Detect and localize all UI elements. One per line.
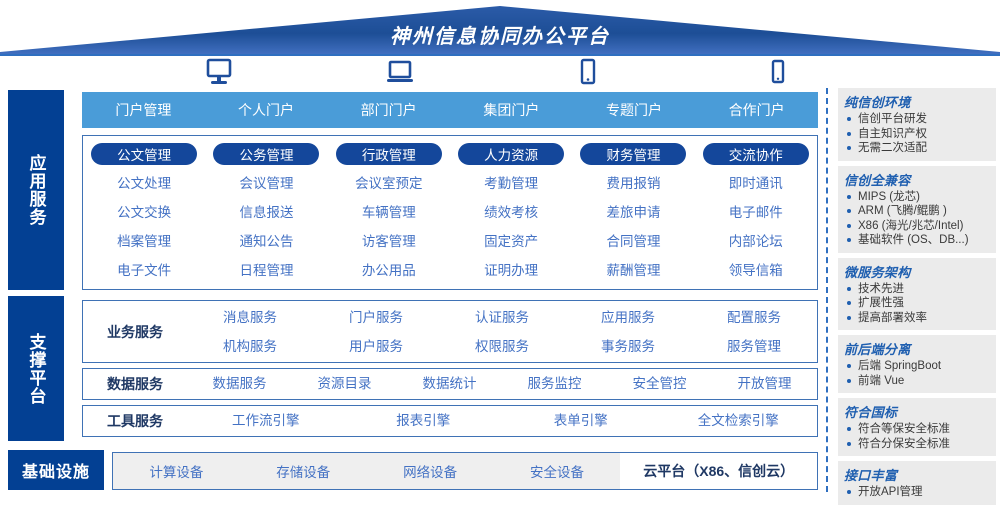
feature-section-title: 前后端分离 <box>844 339 990 358</box>
module-header[interactable]: 财务管理 <box>580 143 686 165</box>
feature-item: 信创平台研发 <box>844 112 990 127</box>
business-service-label: 业务服务 <box>83 322 187 342</box>
service-item[interactable]: 安全管控 <box>607 370 712 398</box>
module-column: 交流协作 即时通讯 电子邮件 内部论坛 领导信箱 <box>695 136 817 289</box>
service-item[interactable]: 权限服务 <box>439 332 565 361</box>
feature-section: 纯信创环境 信创平台研发 自主知识产权 无需二次适配 <box>838 88 996 161</box>
module-column: 公文管理 公文处理 公文交换 档案管理 电子文件 <box>83 136 205 289</box>
module-item[interactable]: 差旅申请 <box>606 198 660 227</box>
application-modules: 公文管理 公文处理 公文交换 档案管理 电子文件 公务管理 会议管理 信息报送 … <box>82 135 818 290</box>
layer-label-application: 应用服务 <box>8 90 64 290</box>
module-item[interactable]: 公文交换 <box>117 198 171 227</box>
module-item[interactable]: 薪酬管理 <box>606 256 660 285</box>
tool-service-box: 工具服务 工作流引擎 报表引擎 表单引擎 全文检索引擎 <box>82 405 818 437</box>
feature-item: 提高部署效率 <box>844 311 990 326</box>
module-item[interactable]: 考勤管理 <box>484 169 538 198</box>
feature-item: 符合分保安全标准 <box>844 437 990 452</box>
feature-list: 符合等保安全标准 符合分保安全标准 <box>844 422 990 451</box>
feature-item: 基础软件 (OS、DB...) <box>844 233 990 248</box>
infra-item[interactable]: 安全设备 <box>494 461 621 481</box>
feature-item: 扩展性强 <box>844 296 990 311</box>
module-column: 财务管理 费用报销 差旅申请 合同管理 薪酬管理 <box>572 136 694 289</box>
portal-item[interactable]: 合作门户 <box>695 100 818 120</box>
data-service-row: 数据服务 资源目录 数据统计 服务监控 安全管控 开放管理 <box>187 370 817 398</box>
business-service-row: 机构服务 用户服务 权限服务 事务服务 服务管理 <box>187 332 817 361</box>
service-item[interactable]: 事务服务 <box>565 332 691 361</box>
infrastructure-box: 计算设备 存储设备 网络设备 安全设备 云平台（X86、信创云） <box>112 452 818 490</box>
service-item[interactable]: 服务监控 <box>502 370 607 398</box>
feature-section-title: 信创全兼容 <box>844 170 990 189</box>
tool-service-row: 工作流引擎 报表引擎 表单引擎 全文检索引擎 <box>187 407 817 435</box>
module-header[interactable]: 公务管理 <box>213 143 319 165</box>
roof-banner: 神州信息协同办公平台 <box>0 0 1000 56</box>
desktop-icon <box>206 58 232 86</box>
feature-item: 开放API管理 <box>844 485 990 500</box>
service-item[interactable]: 门户服务 <box>313 303 439 332</box>
module-item[interactable]: 访客管理 <box>362 227 416 256</box>
service-item[interactable]: 配置服务 <box>691 303 817 332</box>
tablet-icon <box>575 58 601 86</box>
feature-item: MIPS (龙芯) <box>844 190 990 205</box>
feature-list: 后端 SpringBoot 前端 Vue <box>844 359 990 388</box>
laptop-icon <box>387 58 413 86</box>
feature-item: 符合等保安全标准 <box>844 422 990 437</box>
layer-label-infrastructure: 基础设施 <box>8 450 104 490</box>
service-item[interactable]: 用户服务 <box>313 332 439 361</box>
data-service-box: 数据服务 数据服务 资源目录 数据统计 服务监控 安全管控 开放管理 <box>82 368 818 400</box>
module-item[interactable]: 证明办理 <box>484 256 538 285</box>
feature-list: MIPS (龙芯) ARM (飞腾/鲲鹏 ) X86 (海光/兆芯/Intel)… <box>844 190 990 248</box>
feature-section-title: 接口丰富 <box>844 465 990 484</box>
infra-cloud-platform[interactable]: 云平台（X86、信创云） <box>620 461 817 481</box>
feature-item: 前端 Vue <box>844 374 990 389</box>
feature-item: 后端 SpringBoot <box>844 359 990 374</box>
portal-bar: 门户管理 个人门户 部门门户 集团门户 专题门户 合作门户 <box>82 92 818 128</box>
vertical-dashed-divider <box>826 88 828 492</box>
portal-item[interactable]: 集团门户 <box>450 100 573 120</box>
module-item[interactable]: 内部论坛 <box>729 227 783 256</box>
service-item[interactable]: 服务管理 <box>691 332 817 361</box>
module-header[interactable]: 行政管理 <box>336 143 442 165</box>
device-icon-strip <box>80 58 820 88</box>
feature-item: X86 (海光/兆芯/Intel) <box>844 219 990 234</box>
feature-section: 前后端分离 后端 SpringBoot 前端 Vue <box>838 335 996 393</box>
feature-section: 接口丰富 开放API管理 <box>838 461 996 505</box>
module-item[interactable]: 合同管理 <box>606 227 660 256</box>
module-item[interactable]: 会议管理 <box>239 169 293 198</box>
service-item[interactable]: 报表引擎 <box>345 407 503 435</box>
module-item[interactable]: 绩效考核 <box>484 198 538 227</box>
feature-list: 开放API管理 <box>844 485 990 500</box>
feature-item: ARM (飞腾/鲲鹏 ) <box>844 204 990 219</box>
module-item[interactable]: 会议室预定 <box>355 169 423 198</box>
feature-item: 无需二次适配 <box>844 141 990 156</box>
phone-icon <box>765 58 791 86</box>
infrastructure-devices: 计算设备 存储设备 网络设备 安全设备 <box>113 453 620 489</box>
business-service-row: 消息服务 门户服务 认证服务 应用服务 配置服务 <box>187 303 817 332</box>
infra-item[interactable]: 网络设备 <box>367 461 494 481</box>
module-item[interactable]: 办公用品 <box>362 256 416 285</box>
feature-section-title: 纯信创环境 <box>844 92 990 111</box>
architecture-diagram: 神州信息协同办公平台 <box>0 0 1000 500</box>
portal-item[interactable]: 个人门户 <box>205 100 328 120</box>
feature-section-title: 符合国标 <box>844 402 990 421</box>
module-item[interactable]: 公文处理 <box>117 169 171 198</box>
service-item[interactable]: 消息服务 <box>187 303 313 332</box>
module-column: 公务管理 会议管理 信息报送 通知公告 日程管理 <box>205 136 327 289</box>
feature-item: 自主知识产权 <box>844 127 990 142</box>
feature-section: 符合国标 符合等保安全标准 符合分保安全标准 <box>838 398 996 456</box>
service-item[interactable]: 应用服务 <box>565 303 691 332</box>
module-column: 行政管理 会议室预定 车辆管理 访客管理 办公用品 <box>328 136 450 289</box>
module-column: 人力资源 考勤管理 绩效考核 固定资产 证明办理 <box>450 136 572 289</box>
feature-list: 技术先进 扩展性强 提高部署效率 <box>844 282 990 326</box>
module-header[interactable]: 人力资源 <box>458 143 564 165</box>
service-item[interactable]: 表单引擎 <box>502 407 660 435</box>
module-item[interactable]: 日程管理 <box>239 256 293 285</box>
business-service-box: 业务服务 消息服务 门户服务 认证服务 应用服务 配置服务 机构服务 用户服务 … <box>82 300 818 363</box>
service-item[interactable]: 工作流引擎 <box>187 407 345 435</box>
module-item[interactable]: 领导信箱 <box>729 256 783 285</box>
service-item[interactable]: 资源目录 <box>292 370 397 398</box>
module-item[interactable]: 车辆管理 <box>362 198 416 227</box>
module-item[interactable]: 固定资产 <box>484 227 538 256</box>
feature-item: 技术先进 <box>844 282 990 297</box>
tool-service-label: 工具服务 <box>83 411 187 431</box>
feature-sidebar: 纯信创环境 信创平台研发 自主知识产权 无需二次适配 信创全兼容 MIPS (龙… <box>838 88 996 492</box>
service-item[interactable]: 认证服务 <box>439 303 565 332</box>
feature-section-title: 微服务架构 <box>844 262 990 281</box>
portal-item[interactable]: 门户管理 <box>82 100 205 120</box>
module-header[interactable]: 交流协作 <box>703 143 809 165</box>
service-item[interactable]: 开放管理 <box>712 370 817 398</box>
service-item[interactable]: 数据服务 <box>187 370 292 398</box>
feature-list: 信创平台研发 自主知识产权 无需二次适配 <box>844 112 990 156</box>
module-header[interactable]: 公文管理 <box>91 143 197 165</box>
data-service-label: 数据服务 <box>83 374 187 394</box>
feature-section: 微服务架构 技术先进 扩展性强 提高部署效率 <box>838 258 996 331</box>
page-title: 神州信息协同办公平台 <box>0 20 1000 49</box>
module-item[interactable]: 电子文件 <box>117 256 171 285</box>
module-item[interactable]: 即时通讯 <box>729 169 783 198</box>
feature-section: 信创全兼容 MIPS (龙芯) ARM (飞腾/鲲鹏 ) X86 (海光/兆芯/… <box>838 166 996 253</box>
portal-item[interactable]: 部门门户 <box>327 100 450 120</box>
layer-label-platform: 支撑平台 <box>8 296 64 441</box>
service-item[interactable]: 全文检索引擎 <box>660 407 818 435</box>
module-item[interactable]: 档案管理 <box>117 227 171 256</box>
infra-item[interactable]: 存储设备 <box>240 461 367 481</box>
infra-item[interactable]: 计算设备 <box>113 461 240 481</box>
module-item[interactable]: 信息报送 <box>239 198 293 227</box>
module-item[interactable]: 电子邮件 <box>729 198 783 227</box>
service-item[interactable]: 数据统计 <box>397 370 502 398</box>
service-item[interactable]: 机构服务 <box>187 332 313 361</box>
portal-item[interactable]: 专题门户 <box>573 100 696 120</box>
module-item[interactable]: 通知公告 <box>239 227 293 256</box>
module-item[interactable]: 费用报销 <box>606 169 660 198</box>
